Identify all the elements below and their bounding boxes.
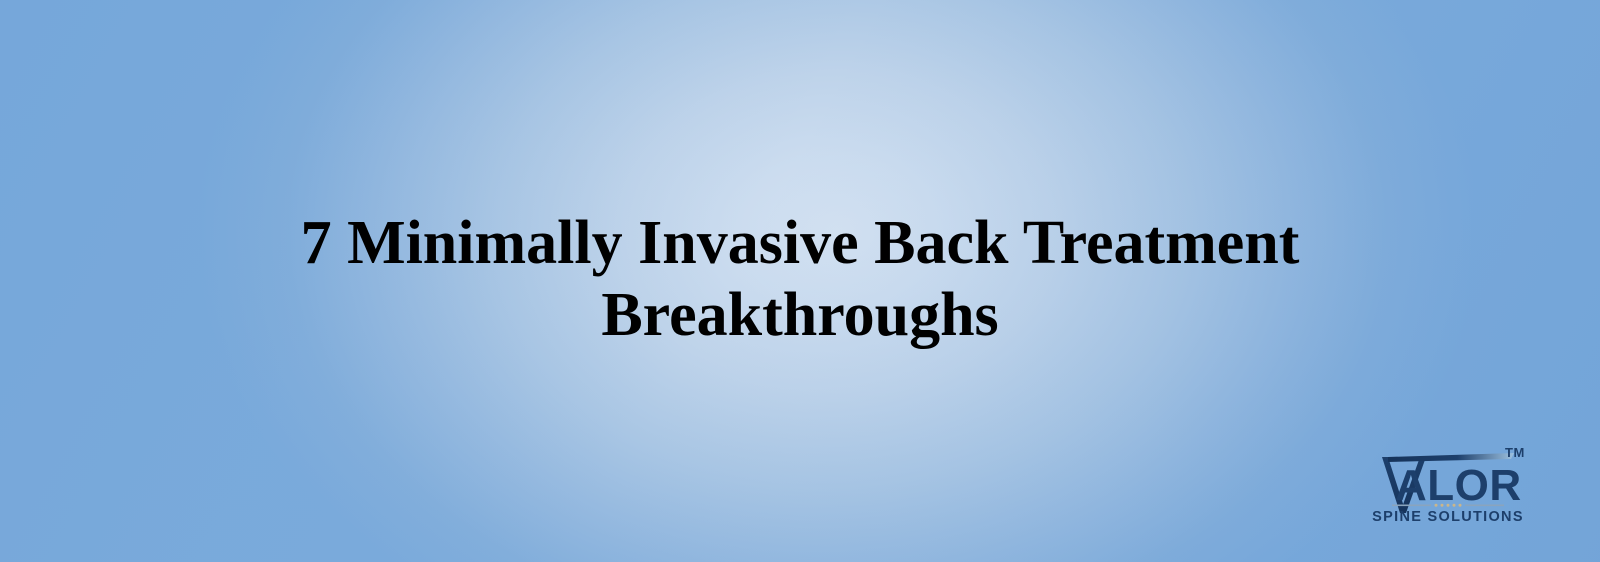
page-title-line-2: Breakthroughs (0, 279, 1600, 351)
banner-hero: 7 Minimally Invasive Back Treatment Brea… (0, 0, 1600, 562)
logo-divider-dot (1435, 504, 1438, 507)
logo-divider-dot (1447, 504, 1450, 507)
logo-divider-dot (1453, 504, 1456, 507)
page-title-line-1: 7 Minimally Invasive Back Treatment (0, 207, 1600, 279)
valor-spine-solutions-logo[interactable]: ALOR SPINE SOLUTIONS TM (1362, 443, 1534, 525)
logo-divider-right (1465, 505, 1504, 507)
logo-trademark-symbol: TM (1505, 446, 1525, 459)
banner-content: 7 Minimally Invasive Back Treatment Brea… (0, 0, 1600, 562)
logo-tagline: SPINE SOLUTIONS (1372, 509, 1524, 525)
page-title: 7 Minimally Invasive Back Treatment Brea… (0, 207, 1600, 351)
logo-divider-dot (1459, 504, 1462, 507)
logo-divider-dot (1441, 504, 1444, 507)
logo-divider-left (1392, 505, 1431, 507)
logo-letters-alor: ALOR (1395, 461, 1522, 510)
